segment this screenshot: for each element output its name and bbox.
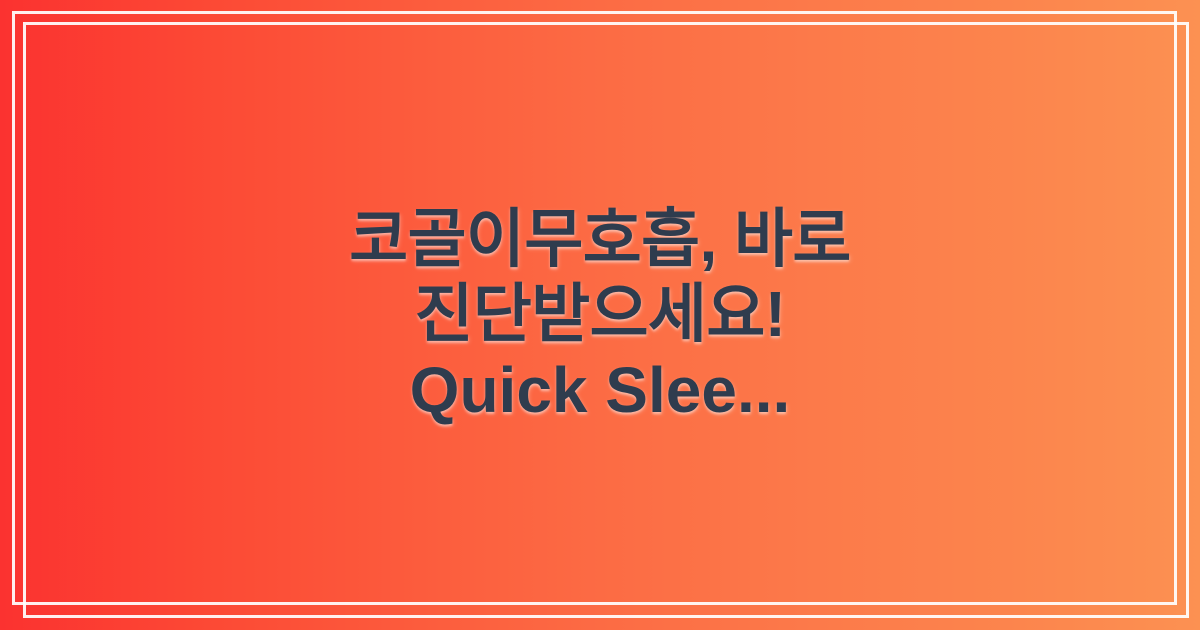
preview-card: 코골이무호흡, 바로 진단받으세요! Quick Slee... [0, 0, 1200, 630]
title-line-3: Quick Slee... [349, 353, 851, 429]
title-container: 코골이무호흡, 바로 진단받으세요! Quick Slee... [0, 0, 1200, 630]
page-title: 코골이무호흡, 바로 진단받으세요! Quick Slee... [349, 202, 851, 429]
title-line-2: 진단받으세요! [349, 277, 851, 353]
title-line-1: 코골이무호흡, 바로 [349, 202, 851, 278]
